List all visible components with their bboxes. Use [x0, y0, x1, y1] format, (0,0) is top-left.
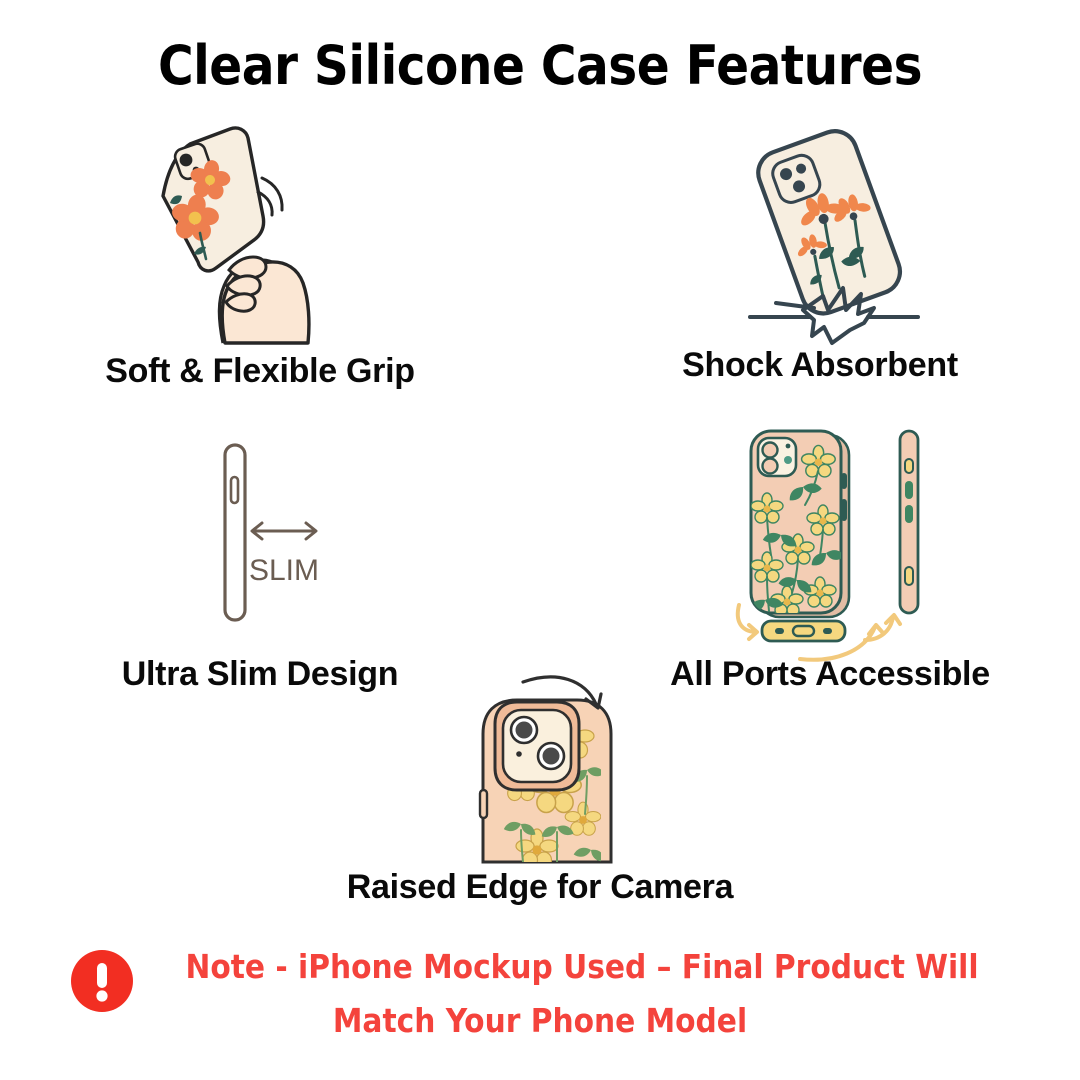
raised-edge-for-camera-illustration: [465, 672, 650, 862]
raised-edge-for-camera-label: Raised Edge for Camera: [280, 868, 800, 907]
phone-case-bottom-edge-icon: [762, 621, 845, 641]
soft-flexible-grip-illustration: [130, 118, 360, 343]
shock-absorbent-illustration: [728, 118, 933, 343]
note-line-1: Note - iPhone Mockup Used – Final Produc…: [140, 940, 1024, 994]
note-banner: Note - iPhone Mockup Used – Final Produc…: [0, 940, 1080, 1055]
width-arrow-icon: [252, 523, 316, 539]
slim-callout-text: SLIM: [249, 554, 319, 587]
soft-flexible-grip-label: Soft & Flexible Grip: [20, 352, 500, 391]
phone-case-side-edge-icon: [900, 431, 918, 613]
page-title: Clear Silicone Case Features: [0, 34, 1080, 97]
dropping-phone-case-icon: [752, 125, 906, 320]
phone-side-profile-icon: [225, 445, 245, 620]
phone-case-camera-closeup-icon: [480, 700, 611, 868]
ultra-slim-design-label: Ultra Slim Design: [30, 655, 490, 694]
all-ports-accessible-illustration: [705, 415, 950, 660]
ultra-slim-design-illustration: SLIM: [195, 435, 370, 630]
all-ports-accessible-label: All Ports Accessible: [590, 655, 1070, 694]
note-line-2: Match Your Phone Model: [0, 994, 1080, 1048]
feature-infographic-page: Clear Silicone Case Features: [0, 0, 1080, 1080]
hand-icon: [219, 257, 309, 343]
flexing-phone-case-icon: [163, 128, 264, 271]
shock-absorbent-label: Shock Absorbent: [580, 346, 1060, 385]
phone-case-back-icon: [748, 431, 847, 616]
